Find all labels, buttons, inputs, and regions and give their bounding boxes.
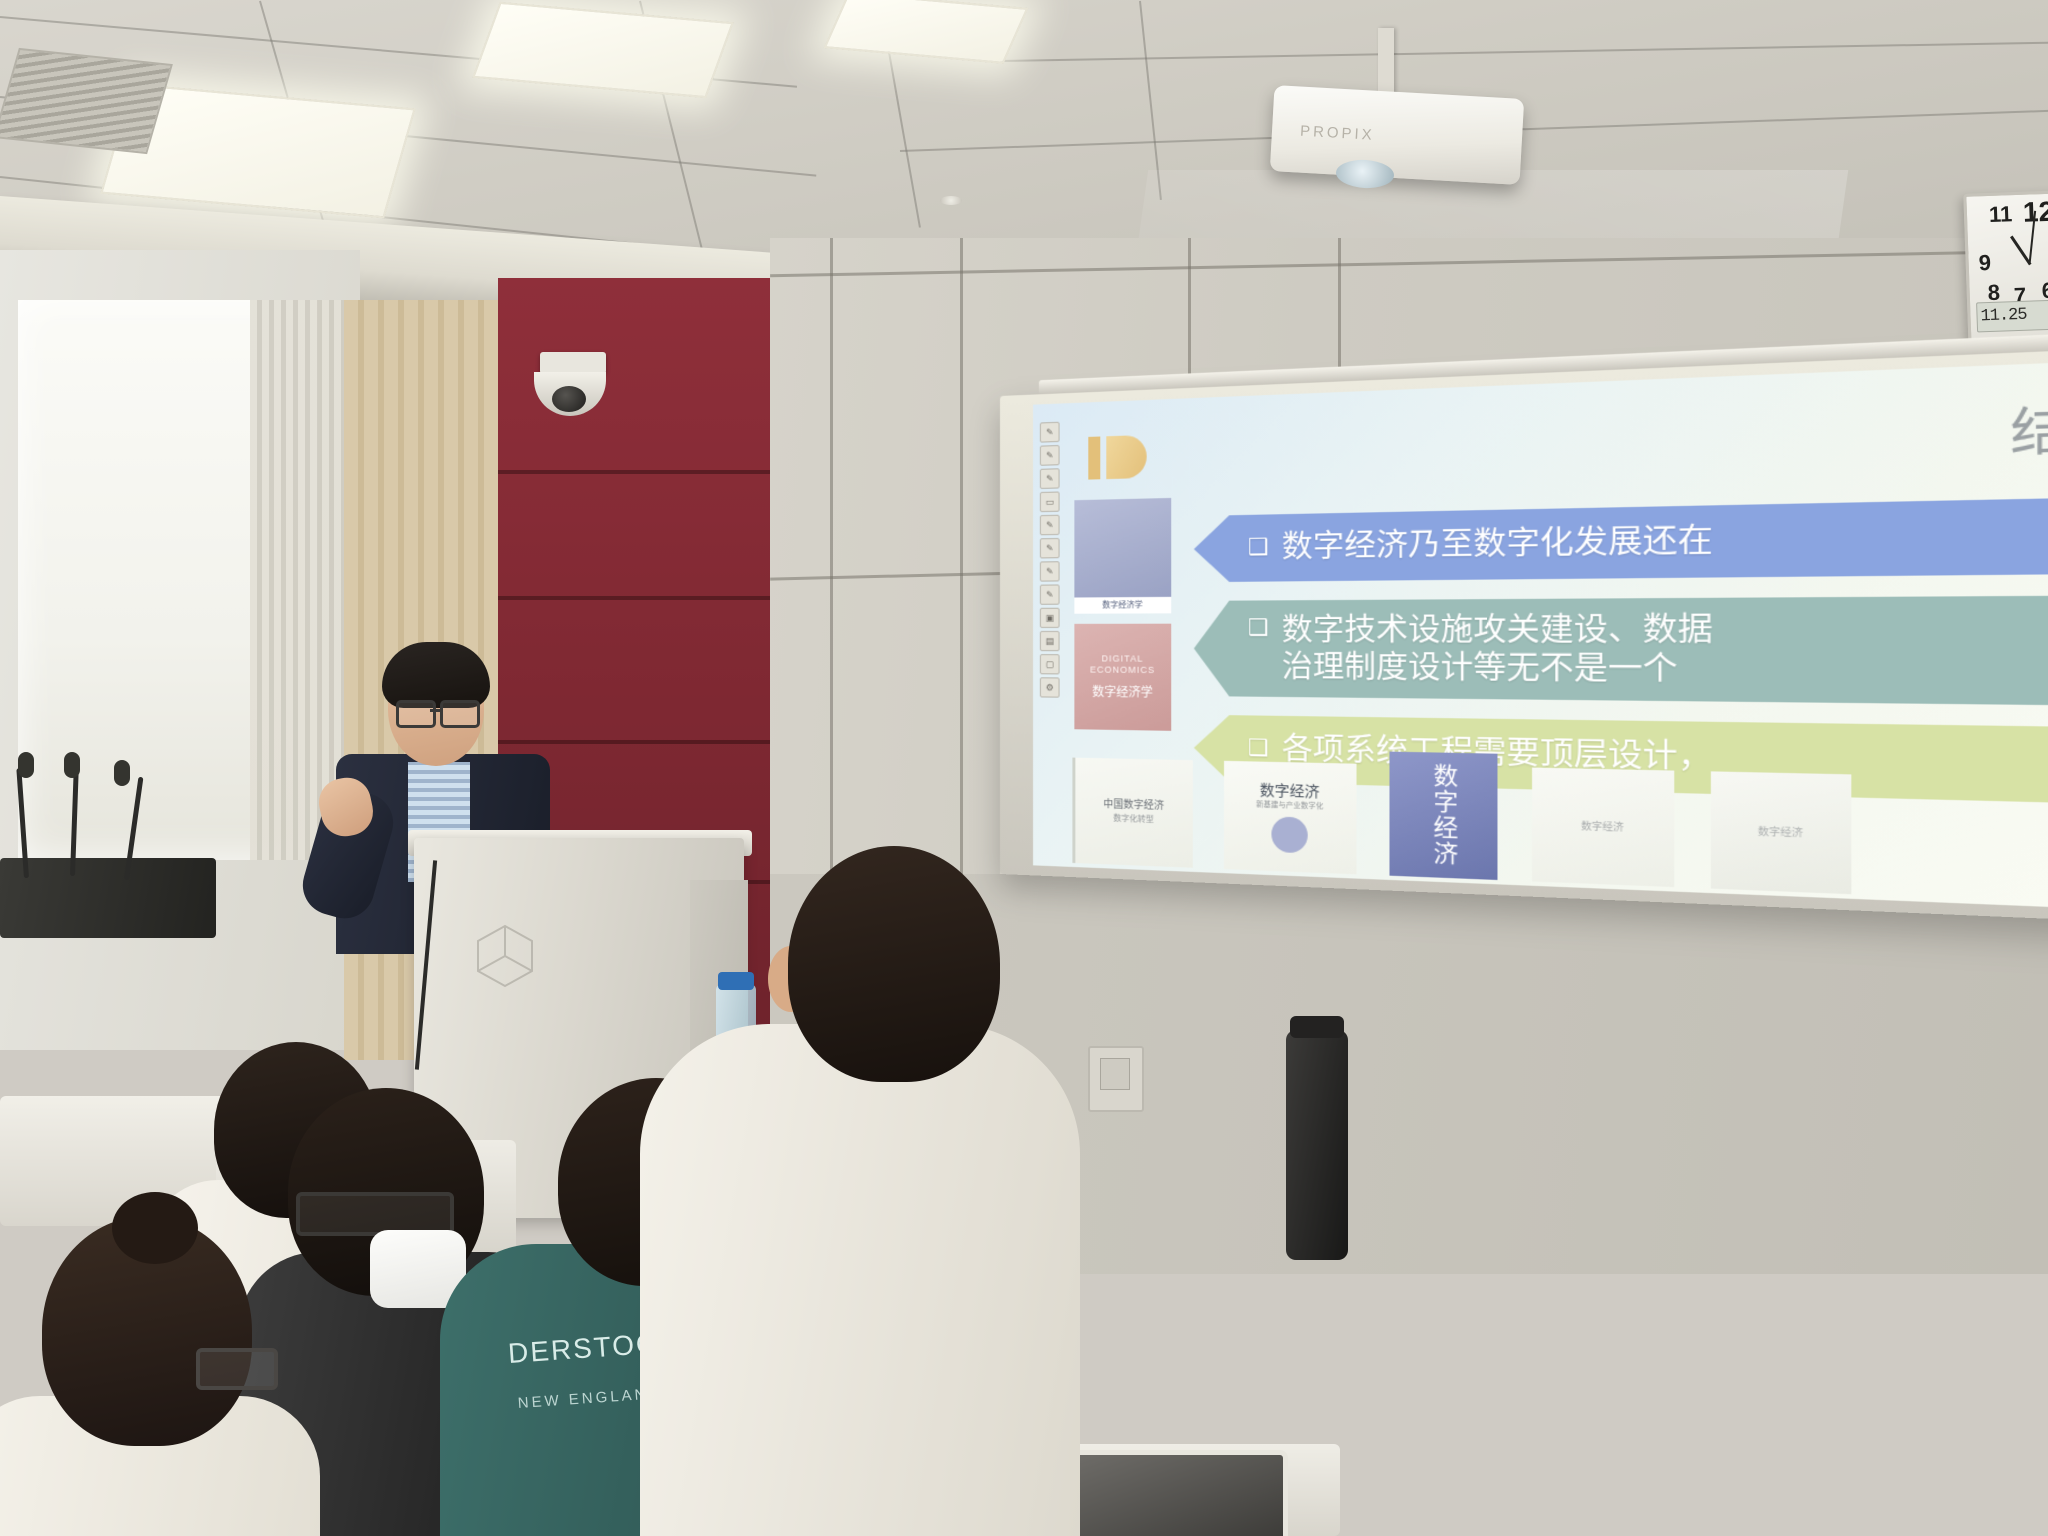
book-title: 数字经济 xyxy=(1581,819,1624,834)
student-right-body xyxy=(640,1024,1080,1536)
book-digital-economy-5: 数字经济 xyxy=(1711,771,1851,894)
slide-bullet-1: ❑ 数字经济乃至数字化发展还在 xyxy=(1194,493,2048,582)
vacuum-flask[interactable] xyxy=(1286,1030,1348,1260)
pen-icon[interactable]: ✎ xyxy=(1040,468,1060,489)
pen-icon[interactable]: ✎ xyxy=(1040,515,1060,536)
slide-side-book-1 xyxy=(1074,498,1171,598)
clock-digital-readout: 11.25 xyxy=(1976,300,2048,333)
pen-icon[interactable]: ✎ xyxy=(1040,561,1060,581)
whiteboard-toolbar[interactable]: ✎ ✎ ✎ ▭ ✎ ✎ ✎ ✎ ▣ ▤ ▢ ⚙ xyxy=(1037,418,1063,853)
lecture-hall-photograph: PROPIX 11 12 9 8 7 6 11.25 结束语 数字经济学 DIG… xyxy=(0,0,2048,1536)
eyeglasses-bridge-icon xyxy=(430,709,442,712)
microphone-head-icon xyxy=(114,760,130,786)
interactive-whiteboard[interactable]: 结束语 数字经济学 DIGITAL ECONOMICS 数字经济学 ❑ 数字经济… xyxy=(1000,343,2048,927)
bullet-marker-icon: ❑ xyxy=(1248,615,1269,643)
socket-face[interactable] xyxy=(1100,1058,1130,1090)
slide-logo-d-icon xyxy=(1106,435,1146,479)
hair-bun-icon xyxy=(112,1192,198,1264)
eraser-icon[interactable]: ▭ xyxy=(1040,491,1060,512)
wall-clock: 11 12 9 8 7 6 11.25 xyxy=(1963,190,2048,352)
slide-logo-bar-icon xyxy=(1088,437,1100,480)
book-subtitle: 数字化转型 xyxy=(1113,813,1154,826)
eyeglasses-icon xyxy=(440,700,480,728)
bullet-text: 数字经济乃至数字化发展还在 xyxy=(1282,521,1713,566)
lecturer-hair xyxy=(382,642,490,708)
bottle-cap-icon[interactable] xyxy=(718,972,754,990)
book-digital-economy-spine: 数字经济 xyxy=(1389,752,1497,880)
pen-icon[interactable]: ✎ xyxy=(1040,422,1060,443)
microphone-head-icon xyxy=(18,752,34,778)
slide-side-book-1-caption: 数字经济学 xyxy=(1074,597,1171,614)
microphone-base-desk xyxy=(0,858,216,938)
book-seal-icon xyxy=(1271,817,1307,854)
book-china-digital-economy: 中国数字经济 数字化转型 xyxy=(1072,758,1192,868)
projected-slide: 结束语 数字经济学 DIGITAL ECONOMICS 数字经济学 ❑ 数字经济… xyxy=(1033,356,2048,914)
wall-seam xyxy=(498,470,778,474)
book-digital-economy-4: 数字经济 xyxy=(1532,767,1674,887)
slide-side-book-2-en-title: DIGITAL ECONOMICS xyxy=(1074,653,1171,676)
bullet-text-line2: 治理制度设计等无不是一个 xyxy=(1282,649,1713,690)
save-icon[interactable]: ▣ xyxy=(1040,608,1060,628)
eyeglasses-icon xyxy=(196,1348,278,1390)
bullet-text: 数字技术设施攻关建设、数据 xyxy=(1282,610,1713,650)
ceiling-downlight xyxy=(940,196,962,205)
slide-title: 结束语 xyxy=(2010,383,2048,466)
bullet-marker-icon: ❑ xyxy=(1248,534,1269,562)
camera-lens-icon xyxy=(552,386,586,412)
slide-bullet-2: ❑ 数字技术设施攻关建设、数据 治理制度设计等无不是一个 xyxy=(1194,594,2048,707)
book-digital-economy: 数字经济 新基建与产业数字化 xyxy=(1224,761,1357,874)
camera-mount xyxy=(540,352,606,374)
ceiling-air-vent xyxy=(0,48,173,154)
clock-hour-hand xyxy=(2010,236,2031,266)
book-subtitle: 新基建与产业数字化 xyxy=(1256,801,1323,813)
clock-numeral: 11 xyxy=(1989,201,2013,228)
pen-icon[interactable]: ✎ xyxy=(1040,538,1060,558)
wall-seam xyxy=(498,596,778,600)
flask-cap-icon[interactable] xyxy=(1290,1016,1344,1038)
ceiling-light-panel xyxy=(824,0,1029,64)
lectern-logo-icon xyxy=(470,920,540,992)
student-right-head xyxy=(788,846,1000,1082)
tablet-device[interactable] xyxy=(1060,1450,1288,1536)
microphone-head-icon xyxy=(64,752,80,778)
book-title: 数字经济 xyxy=(1260,780,1320,802)
settings-icon[interactable]: ⚙ xyxy=(1040,677,1060,697)
print-icon[interactable]: ▤ xyxy=(1040,631,1060,651)
ceiling-light-panel xyxy=(472,2,734,98)
pen-icon[interactable]: ✎ xyxy=(1040,584,1060,604)
eyeglasses-icon xyxy=(396,700,436,728)
book-title: 数字经济 xyxy=(1758,824,1803,840)
slide-side-book-2-cn-title: 数字经济学 xyxy=(1092,683,1153,701)
select-icon[interactable]: ▢ xyxy=(1040,654,1060,674)
slide-side-book-2: DIGITAL ECONOMICS 数字经济学 xyxy=(1074,624,1171,731)
pen-icon[interactable]: ✎ xyxy=(1040,445,1060,466)
clock-numeral: 9 xyxy=(1978,250,1991,276)
book-title: 数字经济 xyxy=(1426,763,1461,868)
